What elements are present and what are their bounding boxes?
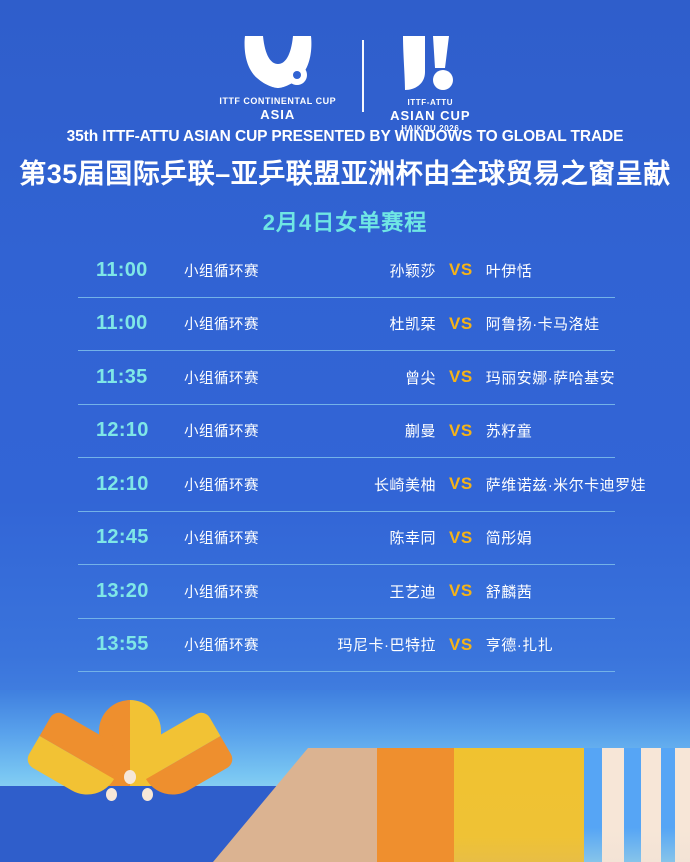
vs-label: VS: [449, 314, 473, 334]
player-b-name: 玛丽安娜·萨哈基安: [486, 367, 616, 388]
schedule-subtitle: 2月4日女单赛程: [0, 205, 690, 237]
continental-cup-mark-icon: [235, 34, 321, 96]
table-row[interactable]: 12:45 小组循环赛 陈幸同 VS 简彤娟: [78, 512, 615, 566]
asian-cup-caption-line1: ITTF-ATTU: [390, 98, 471, 108]
table-row[interactable]: 12:10 小组循环赛 长崎美柚 VS 萨维诺兹·米尔卡迪罗娃: [78, 458, 615, 512]
logo-divider: [362, 40, 364, 112]
stripe-blue-2: [624, 748, 641, 862]
continental-cup-caption: ITTF CONTINENTAL CUP ASIA: [219, 96, 336, 124]
table-row[interactable]: 11:35 小组循环赛 曾尖 VS 玛丽安娜·萨哈基安: [78, 351, 615, 405]
event-title-english: 35th ITTF-ATTU ASIAN CUP PRESENTED BY WI…: [0, 128, 690, 146]
match-pairing: 王艺迪 VS 舒麟茜: [302, 581, 615, 602]
player-b-name: 叶伊恬: [486, 260, 615, 281]
vs-label: VS: [449, 474, 473, 494]
match-time: 11:00: [78, 312, 184, 335]
match-pairing: 孙颖莎 VS 叶伊恬: [302, 260, 615, 281]
asian-cup-mark-icon: [399, 34, 461, 96]
player-b-name: 萨维诺兹·米尔卡迪罗娃: [486, 474, 647, 495]
stripe-cream-1: [602, 748, 624, 862]
flower-dot-3: [142, 788, 153, 801]
match-pairing: 蒯曼 VS 苏籽童: [302, 420, 615, 441]
continental-cup-caption-line2: ASIA: [219, 107, 336, 123]
player-b-name: 亨德·扎扎: [486, 634, 615, 655]
player-a-name: 长崎美柚: [302, 474, 436, 495]
asian-cup-caption-line2: ASIAN CUP: [390, 108, 471, 124]
player-a-name: 陈幸同: [302, 527, 436, 548]
match-stage: 小组循环赛: [184, 260, 302, 281]
match-stage: 小组循环赛: [184, 634, 302, 655]
player-a-name: 孙颖莎: [302, 260, 436, 281]
match-pairing: 陈幸同 VS 简彤娟: [302, 527, 615, 548]
bauhinia-flower-icon: [62, 700, 198, 830]
player-b-name: 简彤娟: [486, 527, 615, 548]
flower-dot-2: [106, 788, 117, 801]
player-b-name: 苏籽童: [486, 420, 615, 441]
ittf-continental-cup-logo: ITTF CONTINENTAL CUP ASIA: [219, 34, 336, 124]
player-b-name: 舒麟茜: [486, 581, 615, 602]
stripe-cream-2: [641, 748, 661, 862]
match-stage: 小组循环赛: [184, 474, 302, 495]
vs-label: VS: [449, 581, 473, 601]
asian-cup-haikou-logo: ITTF-ATTU ASIAN CUP HAIKOU 2026: [390, 34, 471, 134]
match-time: 13:20: [78, 580, 184, 603]
stripe-cream-3: [675, 748, 690, 862]
logo-row: ITTF CONTINENTAL CUP ASIA ITTF-ATTU ASIA…: [0, 34, 690, 134]
player-a-name: 玛尼卡·巴特拉: [302, 634, 436, 655]
player-b-name: 阿鲁扬·卡马洛娃: [486, 313, 615, 334]
table-row[interactable]: 11:00 小组循环赛 孙颖莎 VS 叶伊恬: [78, 244, 615, 298]
vs-label: VS: [449, 367, 473, 387]
schedule-poster: ITTF CONTINENTAL CUP ASIA ITTF-ATTU ASIA…: [0, 0, 690, 862]
match-stage: 小组循环赛: [184, 420, 302, 441]
player-a-name: 王艺迪: [302, 581, 436, 602]
vs-label: VS: [449, 528, 473, 548]
match-time: 12:45: [78, 526, 184, 549]
table-row[interactable]: 13:20 小组循环赛 王艺迪 VS 舒麟茜: [78, 565, 615, 619]
footer-decoration: [0, 690, 690, 862]
table-row[interactable]: 11:00 小组循环赛 杜凯栞 VS 阿鲁扬·卡马洛娃: [78, 298, 615, 352]
orange-block: [377, 748, 454, 862]
stripe-blue-1: [584, 748, 602, 862]
stripe-blue-3: [661, 748, 675, 862]
player-a-name: 曾尖: [302, 367, 436, 388]
vs-label: VS: [449, 260, 473, 280]
yellow-block: [454, 748, 584, 862]
match-time: 12:10: [78, 473, 184, 496]
continental-cup-caption-line1: ITTF CONTINENTAL CUP: [219, 96, 336, 107]
table-row[interactable]: 13:55 小组循环赛 玛尼卡·巴特拉 VS 亨德·扎扎: [78, 619, 615, 673]
match-time: 11:00: [78, 259, 184, 282]
match-stage: 小组循环赛: [184, 313, 302, 334]
match-time: 13:55: [78, 633, 184, 656]
match-pairing: 玛尼卡·巴特拉 VS 亨德·扎扎: [302, 634, 615, 655]
match-stage: 小组循环赛: [184, 367, 302, 388]
match-time: 11:35: [78, 366, 184, 389]
match-schedule-list: 11:00 小组循环赛 孙颖莎 VS 叶伊恬 11:00 小组循环赛 杜凯栞 V…: [78, 244, 615, 672]
event-title-chinese: 第35届国际乒联–亚乒联盟亚洲杯由全球贸易之窗呈献: [0, 152, 690, 191]
vs-label: VS: [449, 421, 473, 441]
flower-dot-1: [124, 770, 136, 784]
match-pairing: 长崎美柚 VS 萨维诺兹·米尔卡迪罗娃: [302, 474, 646, 495]
tan-block: [308, 748, 377, 862]
match-stage: 小组循环赛: [184, 581, 302, 602]
player-a-name: 杜凯栞: [302, 313, 436, 334]
player-a-name: 蒯曼: [302, 420, 436, 441]
match-time: 12:10: [78, 419, 184, 442]
match-pairing: 曾尖 VS 玛丽安娜·萨哈基安: [302, 367, 615, 388]
vs-label: VS: [449, 635, 473, 655]
table-row[interactable]: 12:10 小组循环赛 蒯曼 VS 苏籽童: [78, 405, 615, 459]
match-stage: 小组循环赛: [184, 527, 302, 548]
match-pairing: 杜凯栞 VS 阿鲁扬·卡马洛娃: [302, 313, 615, 334]
